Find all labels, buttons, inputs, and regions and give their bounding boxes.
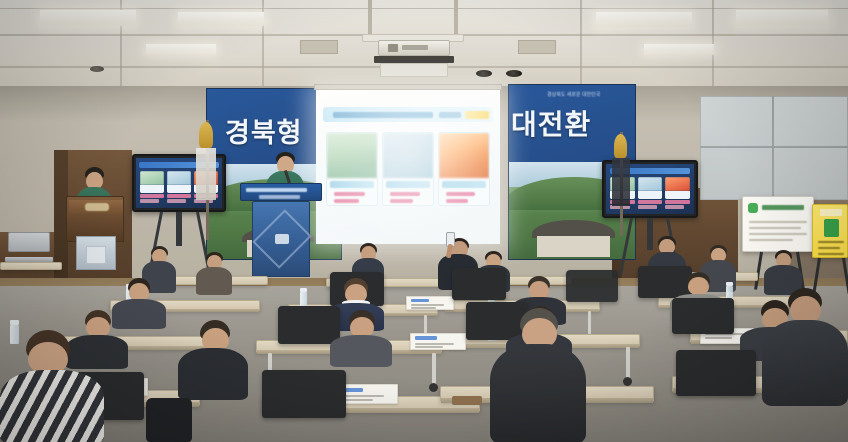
attendee-foreground — [490, 308, 586, 442]
window-glass — [700, 96, 848, 200]
bag — [146, 398, 192, 442]
center-podium-banner — [240, 183, 322, 201]
slide-title-bar — [323, 107, 493, 122]
center-podium — [252, 201, 310, 277]
attendee-foreground — [762, 288, 848, 408]
monitor-left-stand — [176, 212, 182, 246]
ceiling-vent — [300, 40, 338, 54]
attendee — [178, 320, 248, 400]
board-title-text — [762, 205, 804, 210]
center-podium-emblem — [275, 234, 289, 244]
banner-building — [537, 236, 610, 257]
chair-row2 — [566, 270, 618, 302]
info-board-yellow — [812, 204, 848, 258]
slide-card — [382, 132, 434, 206]
attendee-torso — [330, 335, 392, 367]
attendee-striped-top — [0, 370, 104, 442]
ceiling-light — [178, 12, 264, 26]
right-banner-logo-text: 경상북도 새로운 대한민국 — [547, 91, 600, 98]
attendee — [330, 310, 392, 366]
chair-row2 — [452, 268, 506, 300]
attendee-torso — [762, 320, 848, 406]
notepad — [452, 396, 482, 405]
ceiling-speaker — [90, 66, 104, 72]
right-banner-text: 대전환 — [511, 103, 591, 143]
projector-vent — [402, 45, 428, 50]
board-safety-icon — [824, 219, 839, 237]
monitor-slide-card — [140, 171, 164, 193]
left-podium-emblem — [85, 203, 109, 211]
side-desk — [0, 262, 62, 270]
desk-caster — [623, 377, 632, 386]
left-banner-text: 경북형 — [225, 111, 303, 150]
ceiling-light — [596, 12, 692, 27]
info-board-white — [742, 196, 814, 252]
laptop-on-side-desk — [8, 232, 50, 262]
yellow-board-header — [820, 209, 842, 216]
window-mullion — [772, 96, 774, 200]
attendee-torso — [178, 348, 248, 400]
desk-leg — [626, 347, 630, 379]
projection-screen — [316, 90, 500, 244]
monitor-slide-card — [638, 177, 663, 199]
left-podium-inset — [86, 246, 106, 264]
projector-lens — [388, 44, 398, 52]
handout-document — [406, 296, 454, 310]
desk-caster — [429, 383, 438, 392]
ceiling-grid-line — [0, 8, 848, 9]
chair-row3 — [672, 298, 734, 334]
attendee-head — [350, 317, 374, 337]
ceiling-speaker — [476, 70, 492, 77]
flag-finial — [199, 122, 213, 148]
attendee-head — [790, 296, 821, 323]
ceiling-light — [736, 10, 828, 26]
chair-row4 — [262, 370, 346, 418]
monitor-slide-card — [167, 171, 191, 193]
slide-card-image — [439, 133, 489, 178]
monitor-slide-card — [665, 177, 690, 199]
slide-card-image — [383, 133, 433, 178]
laptop-lid — [8, 232, 50, 252]
flag-finial — [614, 134, 627, 158]
ceiling-light — [146, 44, 216, 55]
ceiling-speaker — [506, 70, 522, 77]
slide-card — [438, 132, 490, 206]
slide-card — [326, 132, 378, 206]
ceiling-light — [40, 10, 136, 26]
desk-leg — [432, 353, 436, 385]
projector-shadow-bar — [374, 56, 454, 63]
conference-room-photo: 경북형 경상북도 새로운 대한민국 대전환 — [0, 0, 848, 442]
ceiling-vent — [518, 40, 556, 54]
attendee-head — [688, 277, 709, 295]
handout-document — [410, 333, 466, 350]
attendee — [196, 252, 232, 294]
projector-lift-arm — [368, 0, 372, 36]
window-mullion — [700, 146, 848, 148]
projector-lift-arm — [454, 0, 458, 36]
ceiling-light — [644, 44, 714, 55]
projector-lift-base — [392, 77, 436, 81]
ceiling-grid-line — [580, 0, 582, 92]
slide-card-image — [327, 133, 377, 178]
water-bottle — [300, 288, 307, 308]
attendee-torso — [490, 344, 586, 442]
projector-lift-housing — [380, 63, 448, 77]
secondary-flag — [612, 158, 630, 206]
board-leaf-icon — [748, 203, 758, 213]
chair-row4 — [676, 350, 756, 396]
attendee-torso — [196, 267, 232, 295]
national-flag — [196, 148, 216, 200]
attendee-foreground — [0, 330, 104, 442]
